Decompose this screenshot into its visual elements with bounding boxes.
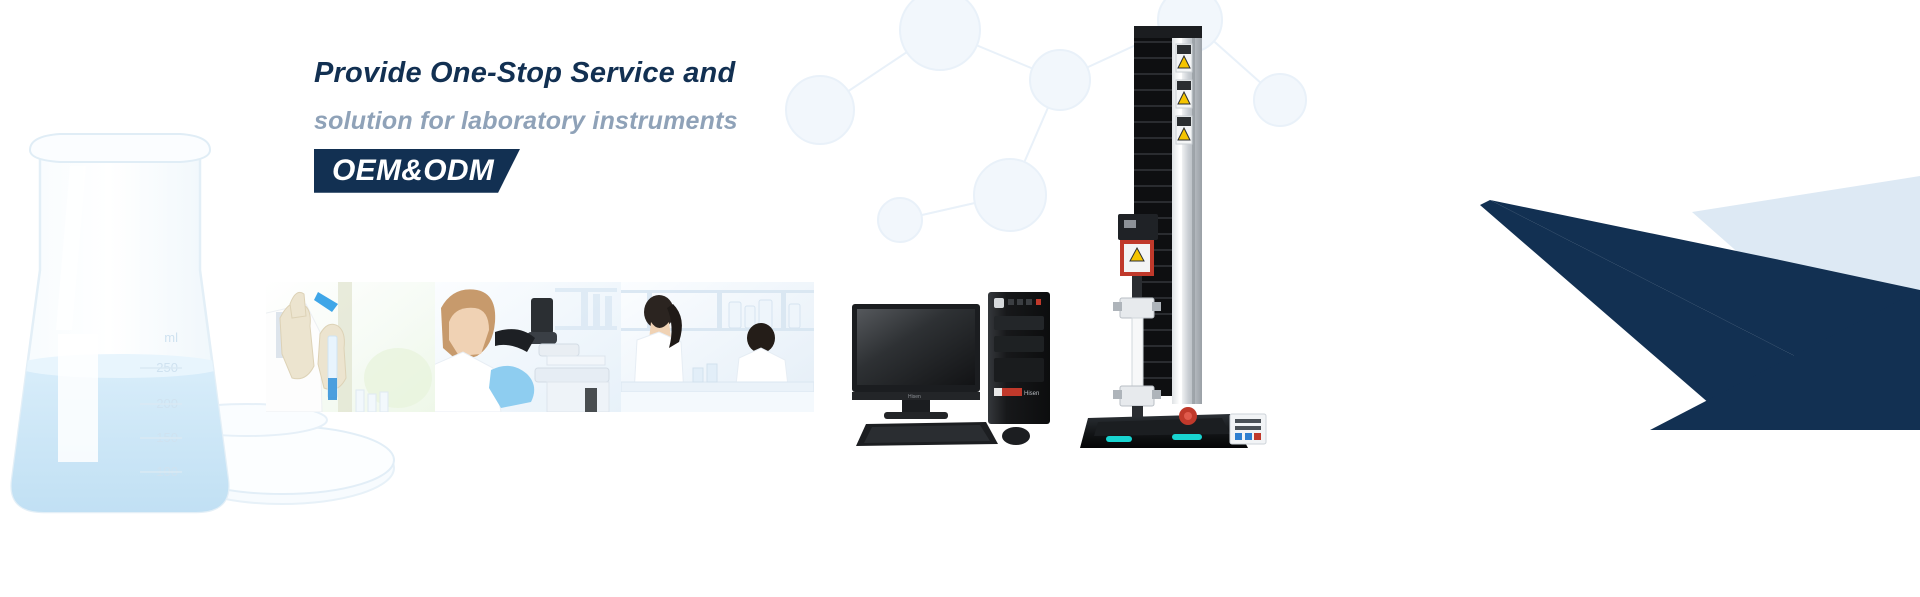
lab-photo-strip — [266, 282, 814, 412]
arrow-dark-navy-lower-icon — [1650, 290, 1920, 430]
badge-row: OEM&ODM — [314, 149, 1074, 193]
warning-label — [1176, 80, 1192, 108]
oem-odm-badge: OEM&ODM — [314, 149, 520, 193]
photo-pipetting — [266, 282, 435, 412]
page-title: Provide One-Stop Service and — [314, 58, 1074, 88]
hero-banner: ml 250 200 150 100 Provide One-Stop — [0, 0, 1920, 597]
arrow-graphics — [1180, 0, 1920, 597]
svg-text:Hisen: Hisen — [908, 394, 921, 400]
photo-lab-bench — [621, 282, 814, 412]
tensile-testing-machine-icon — [1080, 18, 1295, 448]
warning-label — [1176, 116, 1192, 144]
svg-text:Hisen: Hisen — [1024, 391, 1039, 397]
svg-text:ml: ml — [164, 330, 178, 345]
page-subtitle: solution for laboratory instruments — [314, 108, 1074, 134]
headline-block: Provide One-Stop Service and solution fo… — [314, 58, 1074, 193]
arrow-light-blue-icon — [1692, 176, 1920, 320]
warning-label — [1176, 44, 1192, 72]
oem-odm-badge-label: OEM&ODM — [332, 154, 494, 188]
arrow-dark-navy-icon — [1490, 200, 1920, 420]
photo-microscope — [435, 282, 621, 412]
arrow-dark-navy-tail-icon — [1480, 200, 1920, 430]
desktop-computer-icon: Hisen Hisen — [848, 292, 1098, 452]
